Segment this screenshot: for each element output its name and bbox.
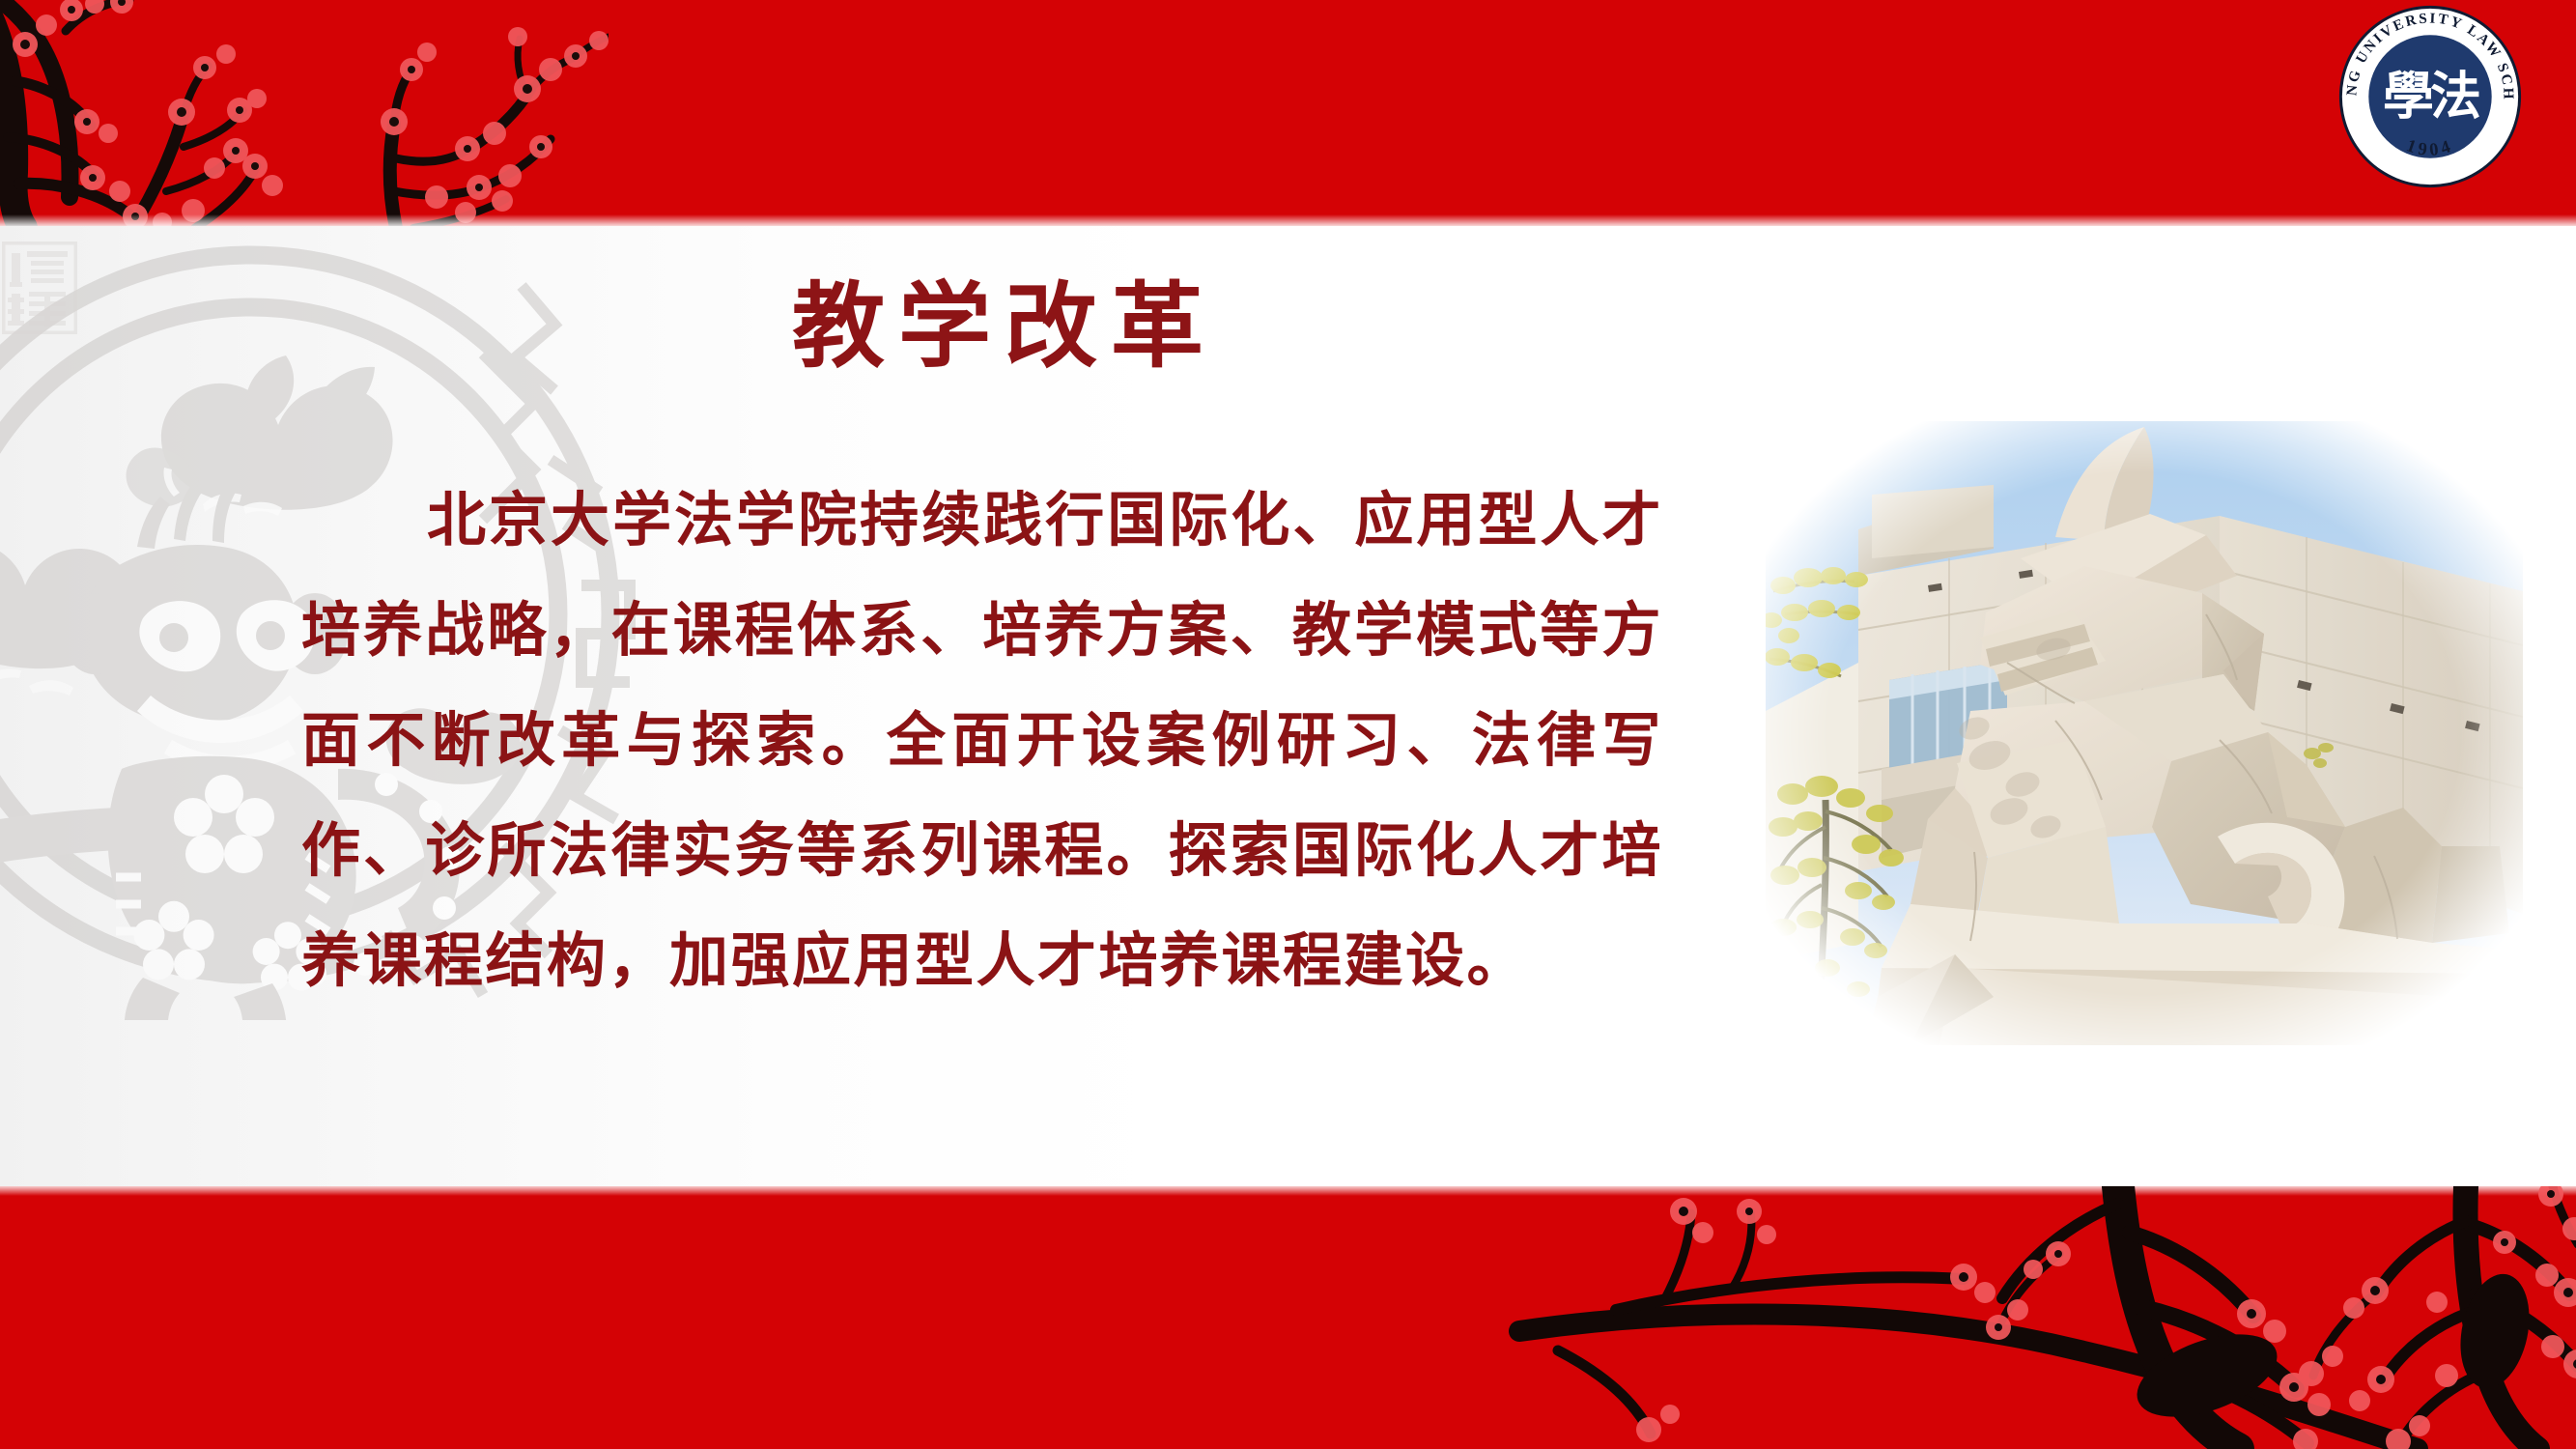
top-red-band [0,0,2576,226]
logo-seal: PEKING UNIVERSITY LAW SCHOOL 1904 學法 [2335,2,2525,191]
law-school-sculpture-photo [1766,421,2523,1045]
plum-blossom-branch-icon [0,0,609,226]
slide-canvas: PEKING UNIVERSITY LAW SCHOOL 1904 學法 教学改… [0,0,2576,1449]
body-paragraph: 北京大学法学院持续践行国际化、应用型人才培养战略，在课程体系、培养方案、教学模式… [301,466,1663,1016]
bottom-red-band [0,1186,2576,1449]
plum-blossom-branch-icon [1442,1186,2576,1449]
logo-center-chars: 學法 [2383,67,2479,127]
page-title: 教学改革 [734,278,1275,376]
